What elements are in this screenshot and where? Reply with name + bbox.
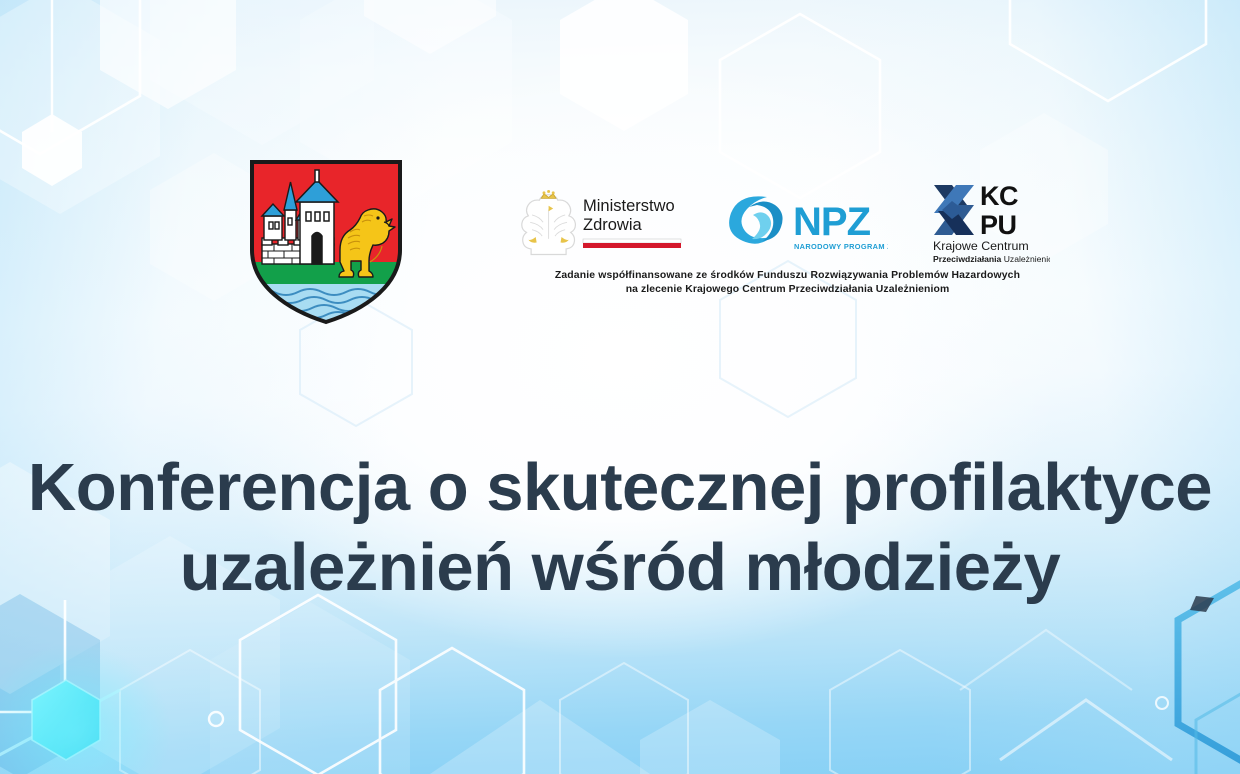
kcpu-x-mark-icon xyxy=(934,185,974,235)
funding-line-1: Zadanie współfinansowane ze środków Fund… xyxy=(505,269,1070,283)
funding-line-2: na zlecenie Krajowego Centrum Przeciwdzi… xyxy=(505,283,1070,297)
npz-acronym: NPZ xyxy=(793,200,871,244)
coat-of-arms-logo xyxy=(244,158,408,326)
conference-slide: Ministerstwo Zdrowia NPZ NARODOWY PROGRA… xyxy=(0,0,1240,774)
npz-tagline: NARODOWY PROGRAM ZDROWIA xyxy=(794,242,888,251)
npz-swirl-icon xyxy=(729,196,782,243)
ministry-label-line1: Ministerstwo xyxy=(583,197,675,215)
kcpu-name-line2-bold: Przeciwdziałania Uzależnieniom xyxy=(933,254,1050,264)
kcpu-acronym-line1: KC xyxy=(980,181,1018,211)
background-hexagon-pattern xyxy=(0,0,1240,774)
kcpu-name-line1: Krajowe Centrum xyxy=(933,239,1029,253)
npz-logo: NPZ NARODOWY PROGRAM ZDROWIA xyxy=(723,187,888,255)
partner-logos-block: Ministerstwo Zdrowia NPZ NARODOWY PROGRA… xyxy=(505,175,1070,325)
page-title: Konferencja o skutecznej profilaktyce uz… xyxy=(0,448,1240,608)
kcpu-logo: KC PU Krajowe Centrum Przeciwdziałania U… xyxy=(930,177,1050,265)
kcpu-acronym-line2: PU xyxy=(980,210,1017,240)
funding-note: Zadanie współfinansowane ze środków Fund… xyxy=(505,269,1070,297)
polish-eagle-icon xyxy=(522,190,576,254)
ministry-label-line2: Zdrowia xyxy=(583,216,643,234)
page-title-line-1: Konferencja o skutecznej profilaktyce xyxy=(0,448,1240,528)
page-title-line-2: uzależnień wśród młodzieży xyxy=(0,528,1240,608)
logo-row: Ministerstwo Zdrowia NPZ NARODOWY PROGRA… xyxy=(0,150,1240,325)
kcpu-name-line2-light: Uzależnieniom xyxy=(1001,254,1050,264)
ministry-of-health-logo: Ministerstwo Zdrowia xyxy=(515,187,690,257)
